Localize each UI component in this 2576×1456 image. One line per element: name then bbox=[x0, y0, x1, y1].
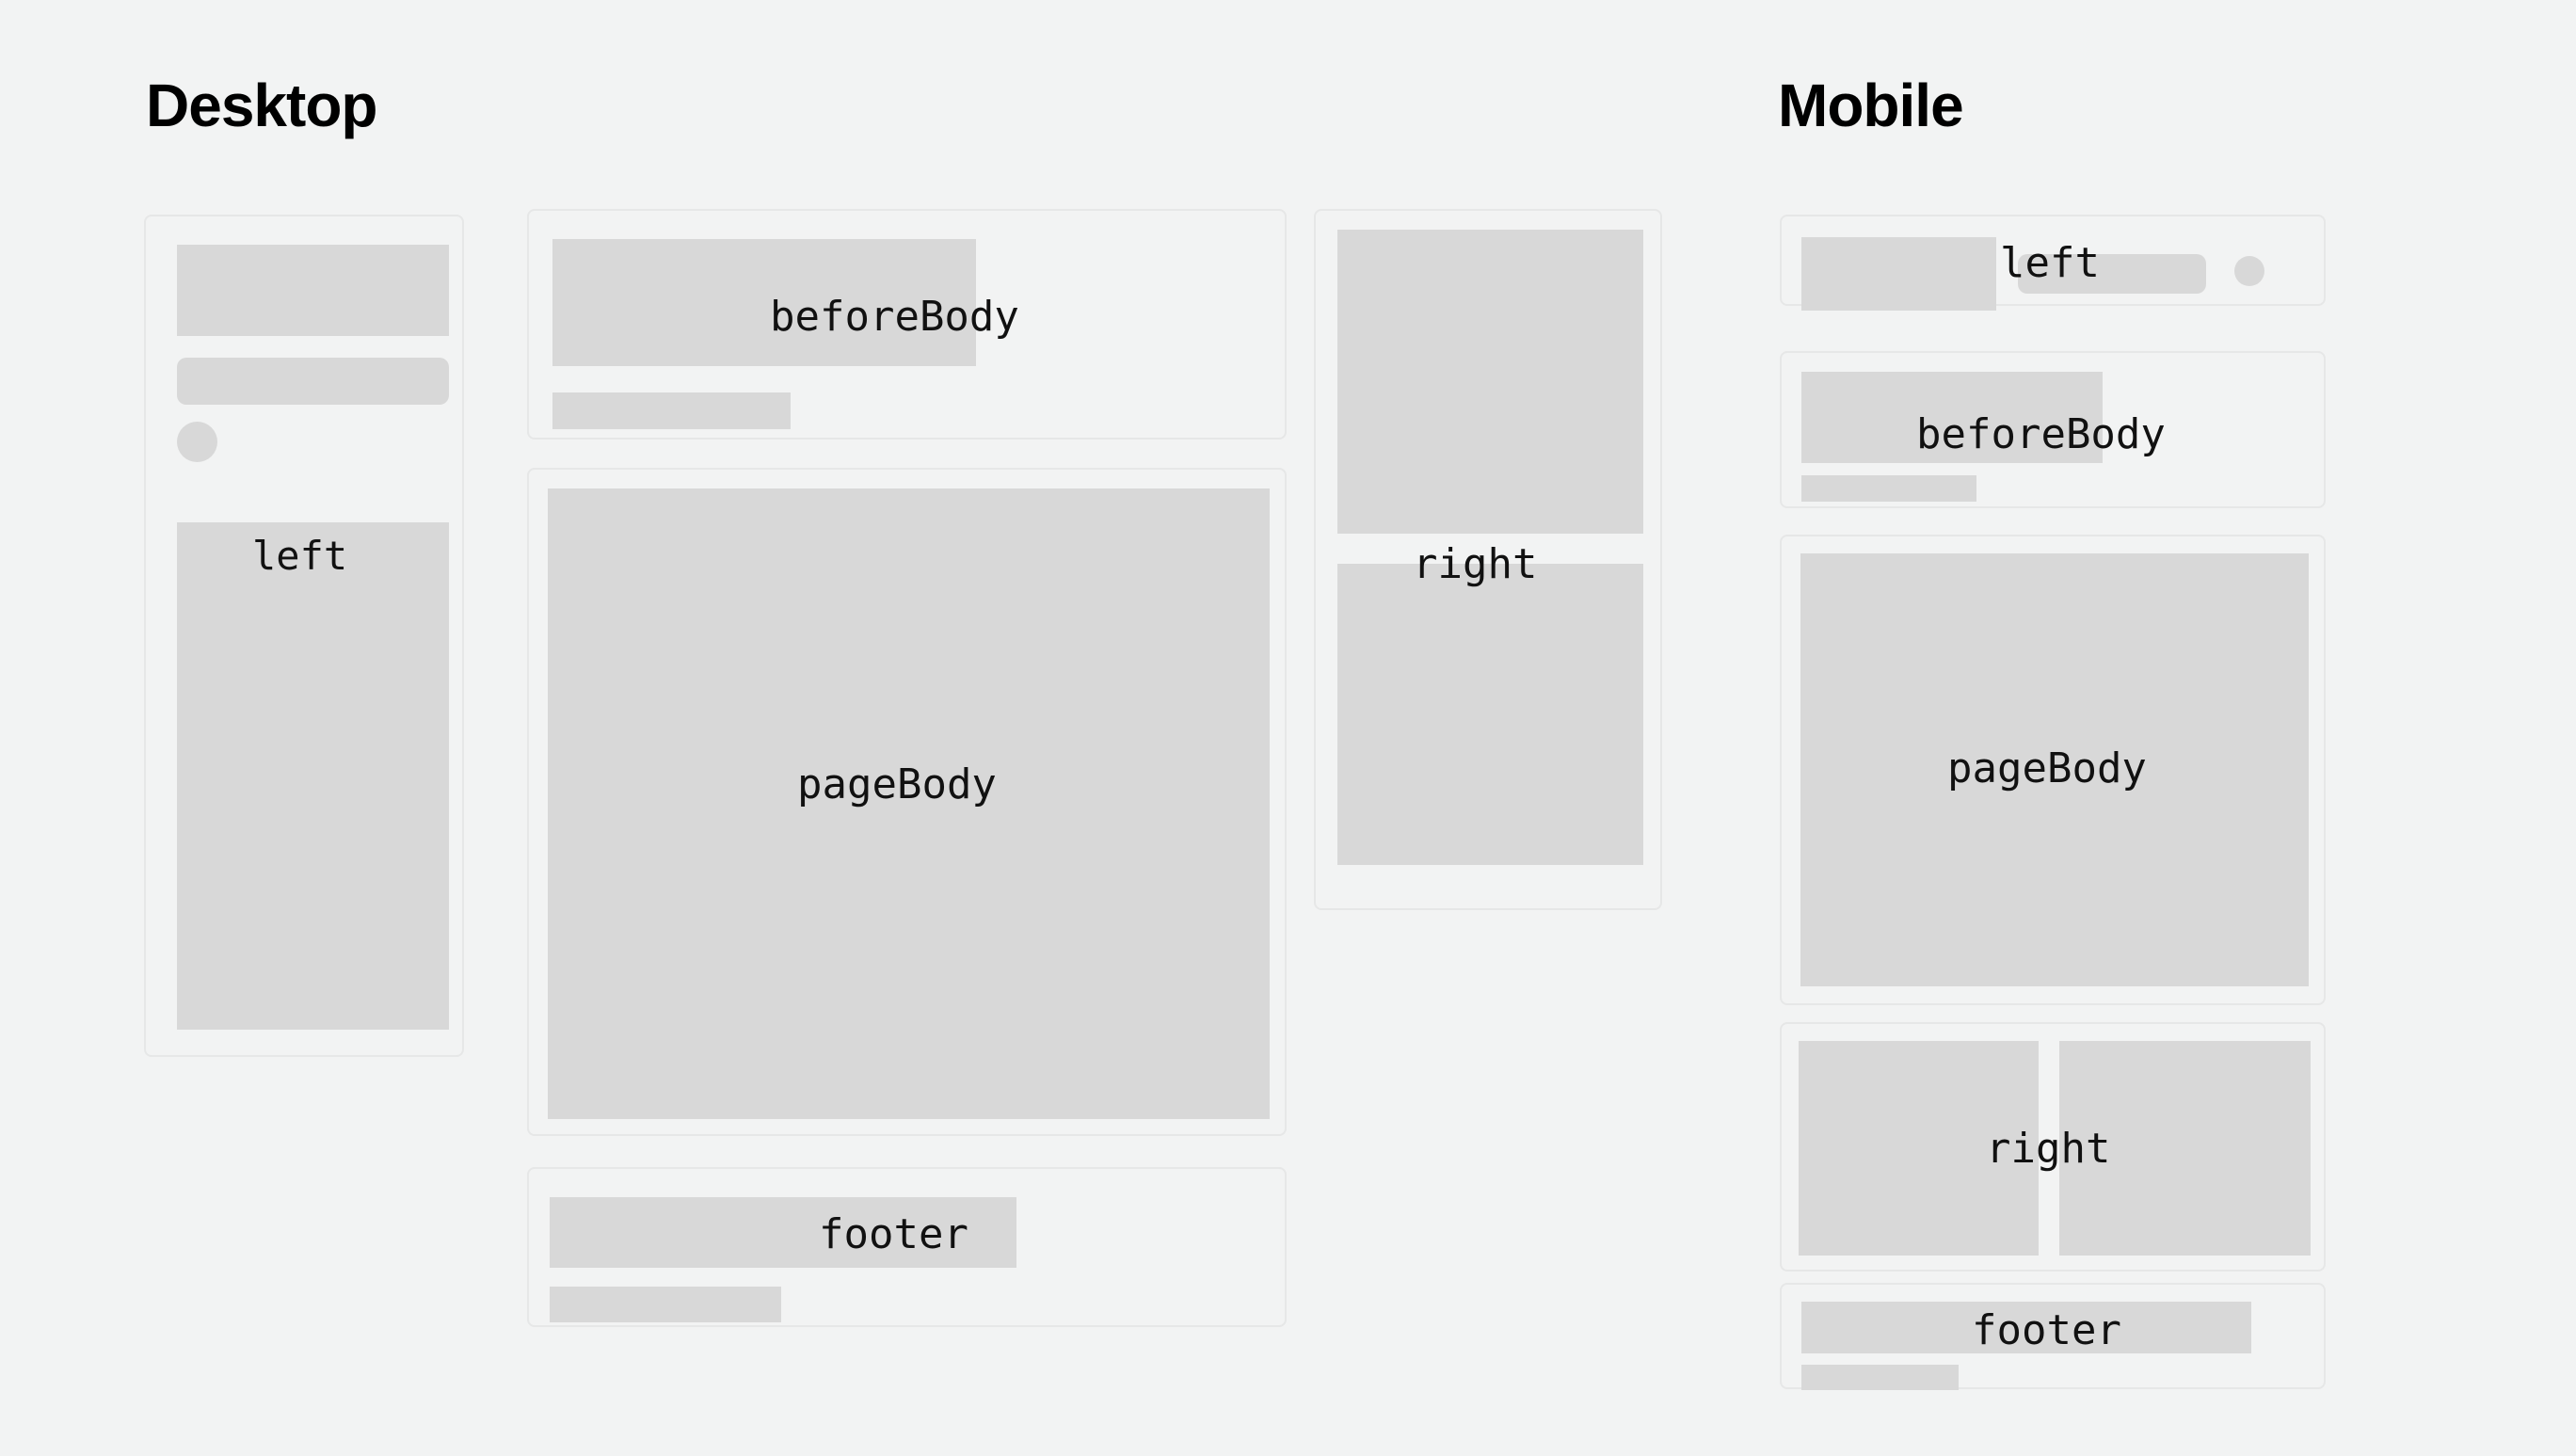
mobile-right-panel[interactable] bbox=[1780, 1022, 2326, 1272]
skeleton-block-header bbox=[177, 245, 449, 336]
desktop-right-panel[interactable] bbox=[1314, 209, 1662, 910]
skeleton-block-secondary bbox=[1801, 475, 1976, 502]
mobile-footer-panel[interactable] bbox=[1780, 1283, 2326, 1389]
skeleton-block-primary bbox=[1801, 372, 2103, 463]
desktop-beforebody-panel[interactable] bbox=[527, 209, 1287, 440]
skeleton-block-nav bbox=[177, 522, 449, 1030]
skeleton-block-bottom bbox=[1337, 564, 1643, 865]
skeleton-block-secondary bbox=[1801, 1365, 1959, 1390]
skeleton-block-search bbox=[177, 358, 449, 405]
skeleton-avatar-circle bbox=[177, 422, 217, 462]
skeleton-block-content bbox=[548, 488, 1270, 1119]
skeleton-block-secondary bbox=[550, 1287, 781, 1322]
skeleton-block-right-column bbox=[2059, 1041, 2311, 1256]
mobile-section-title: Mobile bbox=[1778, 75, 1963, 136]
desktop-footer-panel[interactable] bbox=[527, 1167, 1287, 1327]
skeleton-block-primary bbox=[552, 239, 976, 366]
mobile-beforebody-panel[interactable] bbox=[1780, 351, 2326, 508]
skeleton-avatar-circle bbox=[2234, 256, 2264, 286]
skeleton-block-content bbox=[1800, 553, 2309, 986]
skeleton-block-secondary bbox=[552, 392, 791, 429]
mobile-pagebody-panel[interactable] bbox=[1780, 535, 2326, 1005]
skeleton-block-header bbox=[1801, 237, 1996, 311]
skeleton-block-search bbox=[2018, 254, 2206, 294]
skeleton-block-left-column bbox=[1799, 1041, 2039, 1256]
skeleton-block-primary bbox=[1801, 1302, 2251, 1353]
desktop-left-panel[interactable] bbox=[144, 215, 464, 1057]
desktop-pagebody-panel[interactable] bbox=[527, 468, 1287, 1136]
desktop-section-title: Desktop bbox=[146, 75, 377, 136]
skeleton-block-primary bbox=[550, 1197, 1016, 1268]
skeleton-block-top bbox=[1337, 230, 1643, 534]
mobile-left-panel[interactable] bbox=[1780, 215, 2326, 306]
